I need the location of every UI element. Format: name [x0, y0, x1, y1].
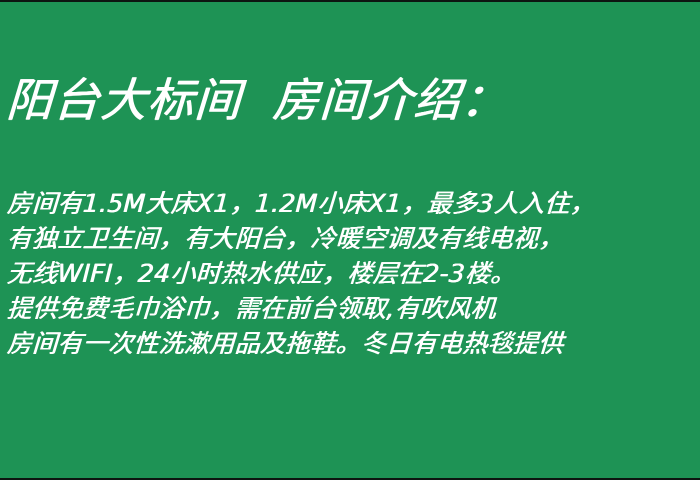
room-description-block: 房间有1.5M大床X1，1.2M小床X1，最多3人入住， 有独立卫生间，有大阳台… — [8, 186, 698, 361]
description-line-4: 提供免费毛巾浴巾，需在前台领取,有吹风机 — [6, 291, 698, 326]
description-line-5: 房间有一次性洗漱用品及拖鞋。冬日有电热毯提供 — [6, 326, 698, 361]
description-line-1: 房间有1.5M大床X1，1.2M小床X1，最多3人入住， — [6, 186, 698, 221]
top-edge-rule — [0, 0, 700, 2]
description-line-3: 无线WIFI，24小时热水供应，楼层在2-3楼。 — [6, 256, 698, 291]
description-line-2: 有独立卫生间，有大阳台，冷暖空调及有线电视， — [6, 221, 698, 256]
room-introduction-poster: 阳台大标间 房间介绍： 房间有1.5M大床X1，1.2M小床X1，最多3人入住，… — [0, 0, 700, 480]
page-title: 阳台大标间 房间介绍： — [5, 72, 692, 128]
